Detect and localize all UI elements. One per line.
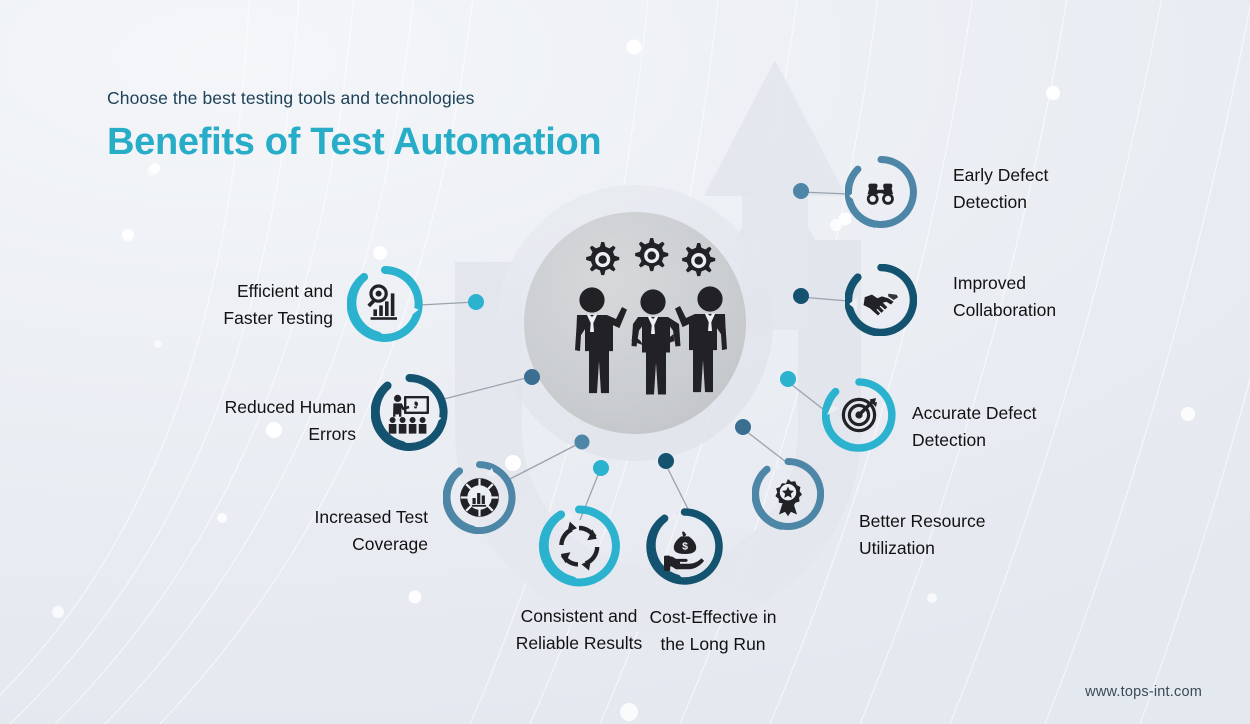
benefit-label-increased-test-coverage: Increased Test Coverage (230, 504, 428, 557)
center-illustration (524, 212, 746, 434)
icon-ring-consistent-and-reliable-results[interactable] (538, 505, 620, 587)
icon-ring-cost-effective-in-the-long-run[interactable]: $ (646, 508, 723, 585)
magnifier-bar-chart-icon (367, 286, 397, 320)
handshake-icon (864, 294, 899, 316)
benefit-label-early-defect-detection: Early Defect Detection (953, 162, 1138, 215)
website-url: www.tops-int.com (1085, 684, 1202, 700)
icon-ring-reduced-human-errors[interactable] (371, 374, 448, 451)
benefit-label-reduced-human-errors: Reduced Human Errors (134, 394, 356, 447)
header-block: Choose the best testing tools and techno… (107, 88, 601, 164)
training-presentation-icon (389, 395, 429, 434)
hand-money-bag-icon: $ (664, 531, 704, 571)
binoculars-icon (867, 184, 894, 205)
three-people-with-gears-icon (524, 212, 746, 434)
infographic-canvas: Choose the best testing tools and techno… (0, 0, 1250, 724)
icon-ring-early-defect-detection[interactable] (845, 156, 917, 228)
icon-ring-better-resource-utilization[interactable] (752, 458, 824, 530)
benefit-label-efficient-and-faster-testing: Efficient and Faster Testing (135, 278, 333, 331)
icon-ring-accurate-defect-detection[interactable] (822, 378, 896, 452)
benefit-label-consistent-and-reliable-results: Consistent and Reliable Results (470, 603, 688, 656)
benefit-label-accurate-defect-detection: Accurate Defect Detection (912, 400, 1122, 453)
icon-ring-increased-test-coverage[interactable] (443, 461, 516, 534)
target-arrow-icon (843, 398, 877, 431)
svg-text:$: $ (682, 541, 688, 553)
benefit-label-better-resource-utilization: Better Resource Utilization (859, 508, 1059, 561)
subtitle: Choose the best testing tools and techno… (107, 88, 601, 109)
benefit-label-improved-collaboration: Improved Collaboration (953, 270, 1148, 323)
page-title: Benefits of Test Automation (107, 121, 601, 164)
segmented-bar-chart-icon (460, 478, 499, 517)
icon-ring-efficient-and-faster-testing[interactable] (347, 266, 423, 342)
circular-arrows-icon (561, 522, 597, 571)
award-ribbon-icon (775, 479, 802, 516)
icon-ring-improved-collaboration[interactable] (845, 264, 917, 336)
